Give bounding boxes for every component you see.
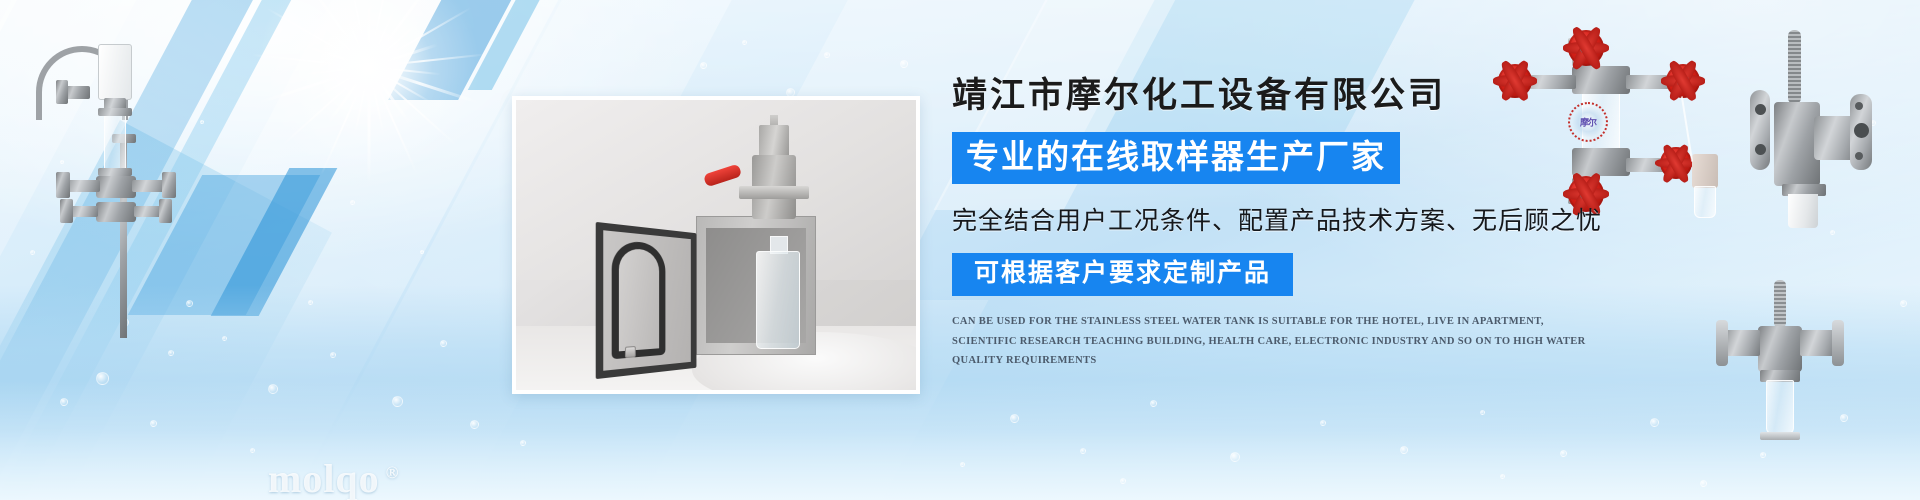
water-droplet bbox=[60, 398, 68, 406]
water-droplet bbox=[1400, 446, 1408, 454]
water-droplet bbox=[1010, 414, 1019, 423]
water-droplet bbox=[250, 448, 255, 453]
knurled-handle bbox=[1774, 280, 1786, 328]
valve-end-cap bbox=[162, 172, 176, 198]
water-droplet bbox=[1700, 480, 1707, 487]
outlet-pipe bbox=[1800, 330, 1836, 356]
flange-bolt-hole bbox=[1755, 144, 1766, 155]
water-droplet bbox=[1150, 400, 1157, 407]
water-droplet bbox=[960, 462, 965, 467]
outlet-flange bbox=[1832, 320, 1844, 366]
water-droplet bbox=[308, 300, 313, 305]
photo-valve-assembly bbox=[728, 123, 820, 227]
knurled-handle bbox=[1788, 30, 1801, 104]
water-droplet bbox=[520, 440, 526, 446]
valve-arm bbox=[70, 206, 98, 217]
collector-base bbox=[1760, 432, 1800, 440]
watermark-logo: molqo® bbox=[268, 455, 399, 500]
custom-order-badge: 可根据客户要求定制产品 bbox=[952, 253, 1293, 297]
water-droplet bbox=[742, 40, 747, 45]
water-droplet bbox=[392, 396, 403, 407]
water-droplet bbox=[1120, 478, 1126, 484]
water-droplet bbox=[150, 420, 157, 427]
valve-arm bbox=[66, 180, 100, 192]
valve-end-cap bbox=[56, 80, 68, 104]
water-droplet bbox=[420, 250, 424, 254]
valve-arm bbox=[134, 206, 162, 217]
sub-headline: 完全结合用户工况条件、配置产品技术方案、无后顾之忧 bbox=[952, 201, 1732, 237]
photo-sample-bottle bbox=[756, 251, 800, 350]
right-equipment-illustration bbox=[1760, 28, 1910, 238]
water-droplet bbox=[440, 340, 447, 347]
promo-banner: 摩尔 靖江市摩尔化工设备有限公司 专业的在线取样器生产厂家 完全结 bbox=[0, 0, 1920, 500]
sun-ray bbox=[368, 67, 371, 185]
photo-cabinet-door bbox=[596, 221, 697, 378]
sight-glass-tube bbox=[104, 112, 126, 172]
water-droplet bbox=[1480, 410, 1485, 415]
photo-valve-flange bbox=[739, 186, 809, 200]
valve-arm bbox=[132, 180, 166, 192]
tube-flange bbox=[98, 108, 132, 116]
valve-body bbox=[96, 202, 136, 222]
registered-trademark-icon: ® bbox=[386, 463, 400, 482]
water-droplet bbox=[1320, 420, 1326, 426]
water-droplet bbox=[268, 384, 278, 394]
company-name: 靖江市摩尔化工设备有限公司 bbox=[952, 76, 1732, 116]
water-droplet bbox=[700, 62, 707, 69]
ribbon-parallelogram bbox=[211, 168, 338, 316]
water-droplet bbox=[168, 350, 174, 356]
english-description: CAN BE USED FOR THE STAINLESS STEEL WATE… bbox=[952, 312, 1592, 370]
valve-end-cap bbox=[60, 199, 73, 223]
water-droplet bbox=[330, 352, 336, 358]
water-droplet bbox=[1500, 474, 1505, 479]
photo-door-latch bbox=[625, 346, 636, 358]
sample-collector bbox=[1788, 194, 1818, 228]
bottom-right-equipment-illustration bbox=[1716, 276, 1906, 466]
water-droplet bbox=[222, 336, 227, 341]
headline-badge: 专业的在线取样器生产厂家 bbox=[952, 132, 1400, 184]
red-hand-wheel bbox=[1568, 30, 1604, 66]
photo-door-window bbox=[611, 239, 665, 358]
water-droplet bbox=[350, 200, 355, 205]
water-droplet bbox=[1560, 450, 1567, 457]
water-droplet bbox=[96, 372, 109, 385]
photo-valve-bonnet bbox=[759, 125, 788, 158]
water-droplet bbox=[900, 60, 908, 68]
sunburst-rays-icon bbox=[258, 0, 480, 178]
flange-bore bbox=[1854, 123, 1869, 138]
glass-sample-collector bbox=[1766, 380, 1794, 434]
valve-body bbox=[96, 176, 136, 198]
product-photo-frame bbox=[512, 96, 920, 394]
product-photo bbox=[516, 100, 916, 390]
valve-end-cap bbox=[56, 172, 70, 198]
water-droplet bbox=[1650, 418, 1659, 427]
tube-flange bbox=[98, 168, 132, 176]
water-droplet bbox=[824, 52, 830, 58]
water-droplet bbox=[470, 420, 479, 429]
watermark-text: molqo bbox=[268, 456, 380, 500]
flange-bolt-hole bbox=[1855, 152, 1863, 160]
left-equipment-illustration bbox=[12, 18, 212, 318]
valve-body bbox=[1758, 326, 1802, 372]
water-droplet bbox=[1230, 452, 1240, 462]
flange-bolt-hole bbox=[1755, 104, 1766, 115]
valve-end-cap bbox=[159, 199, 172, 223]
flange-bolt-hole bbox=[1855, 102, 1863, 110]
water-droplet bbox=[1080, 448, 1086, 454]
instrument-housing bbox=[98, 44, 132, 100]
banner-copy: 靖江市摩尔化工设备有限公司 专业的在线取样器生产厂家 完全结合用户工况条件、配置… bbox=[952, 76, 1732, 371]
left-flange bbox=[1750, 90, 1770, 170]
